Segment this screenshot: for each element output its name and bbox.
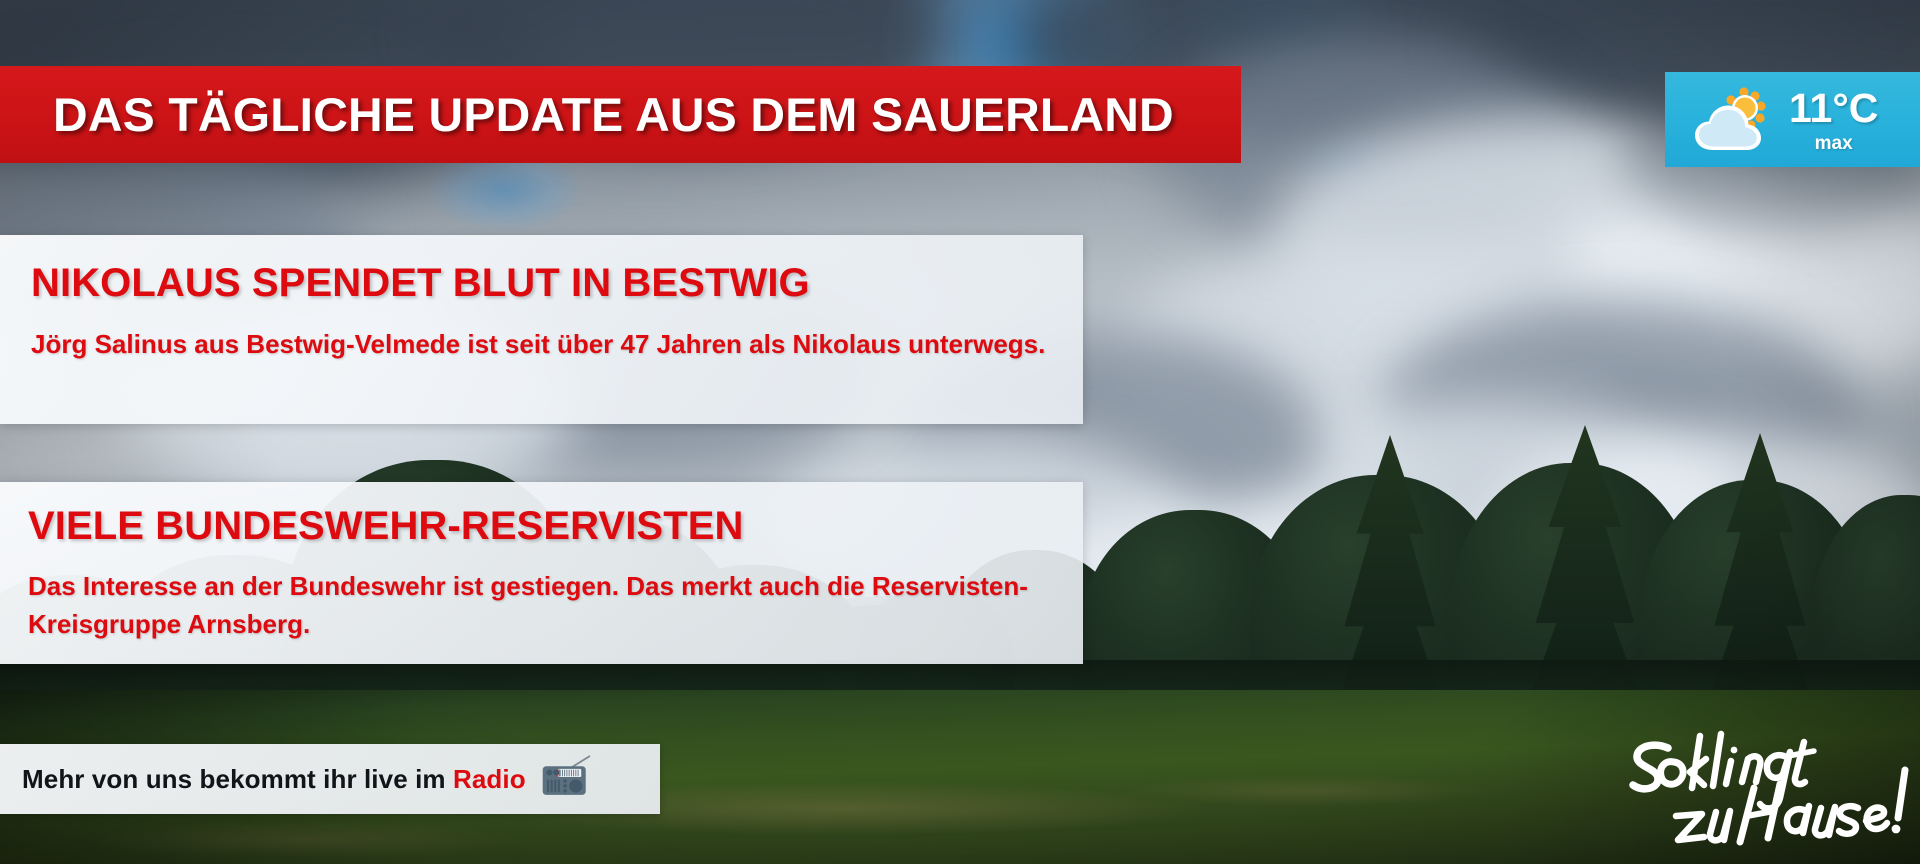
news-body: Jörg Salinus aus Bestwig-Velmede ist sei… [31,325,1053,363]
radio-icon [540,755,592,804]
radio-promo-text: Mehr von uns bekommt ihr live im Radio [22,764,526,795]
radio-promo-text-highlight: Radio [453,764,526,794]
radio-promo-text-plain: Mehr von uns bekommt ihr live im [22,764,453,794]
sun-behind-cloud-icon [1687,84,1779,156]
weather-qualifier: max [1815,134,1853,153]
news-card[interactable]: NIKOLAUS SPENDET BLUT IN BESTWIG Jörg Sa… [0,235,1083,424]
broadcast-news-graphic: DAS TÄGLICHE UPDATE AUS DEM SAUERLAND [0,0,1920,864]
header-bar: DAS TÄGLICHE UPDATE AUS DEM SAUERLAND [0,66,1241,163]
weather-readout: 11°C max [1789,88,1878,153]
weather-temperature: 11°C [1789,88,1878,129]
news-headline: NIKOLAUS SPENDET BLUT IN BESTWIG [31,261,1053,306]
radio-promo-bar[interactable]: Mehr von uns bekommt ihr live im Radio [0,744,660,814]
weather-widget[interactable]: 11°C max [1665,72,1920,167]
news-card[interactable]: VIELE BUNDESWEHR-RESERVISTEN Das Interes… [0,482,1083,664]
page-title: DAS TÄGLICHE UPDATE AUS DEM SAUERLAND [0,87,1174,142]
news-headline: VIELE BUNDESWEHR-RESERVISTEN [28,504,1057,549]
news-body: Das Interesse an der Bundeswehr ist gest… [28,567,1057,644]
